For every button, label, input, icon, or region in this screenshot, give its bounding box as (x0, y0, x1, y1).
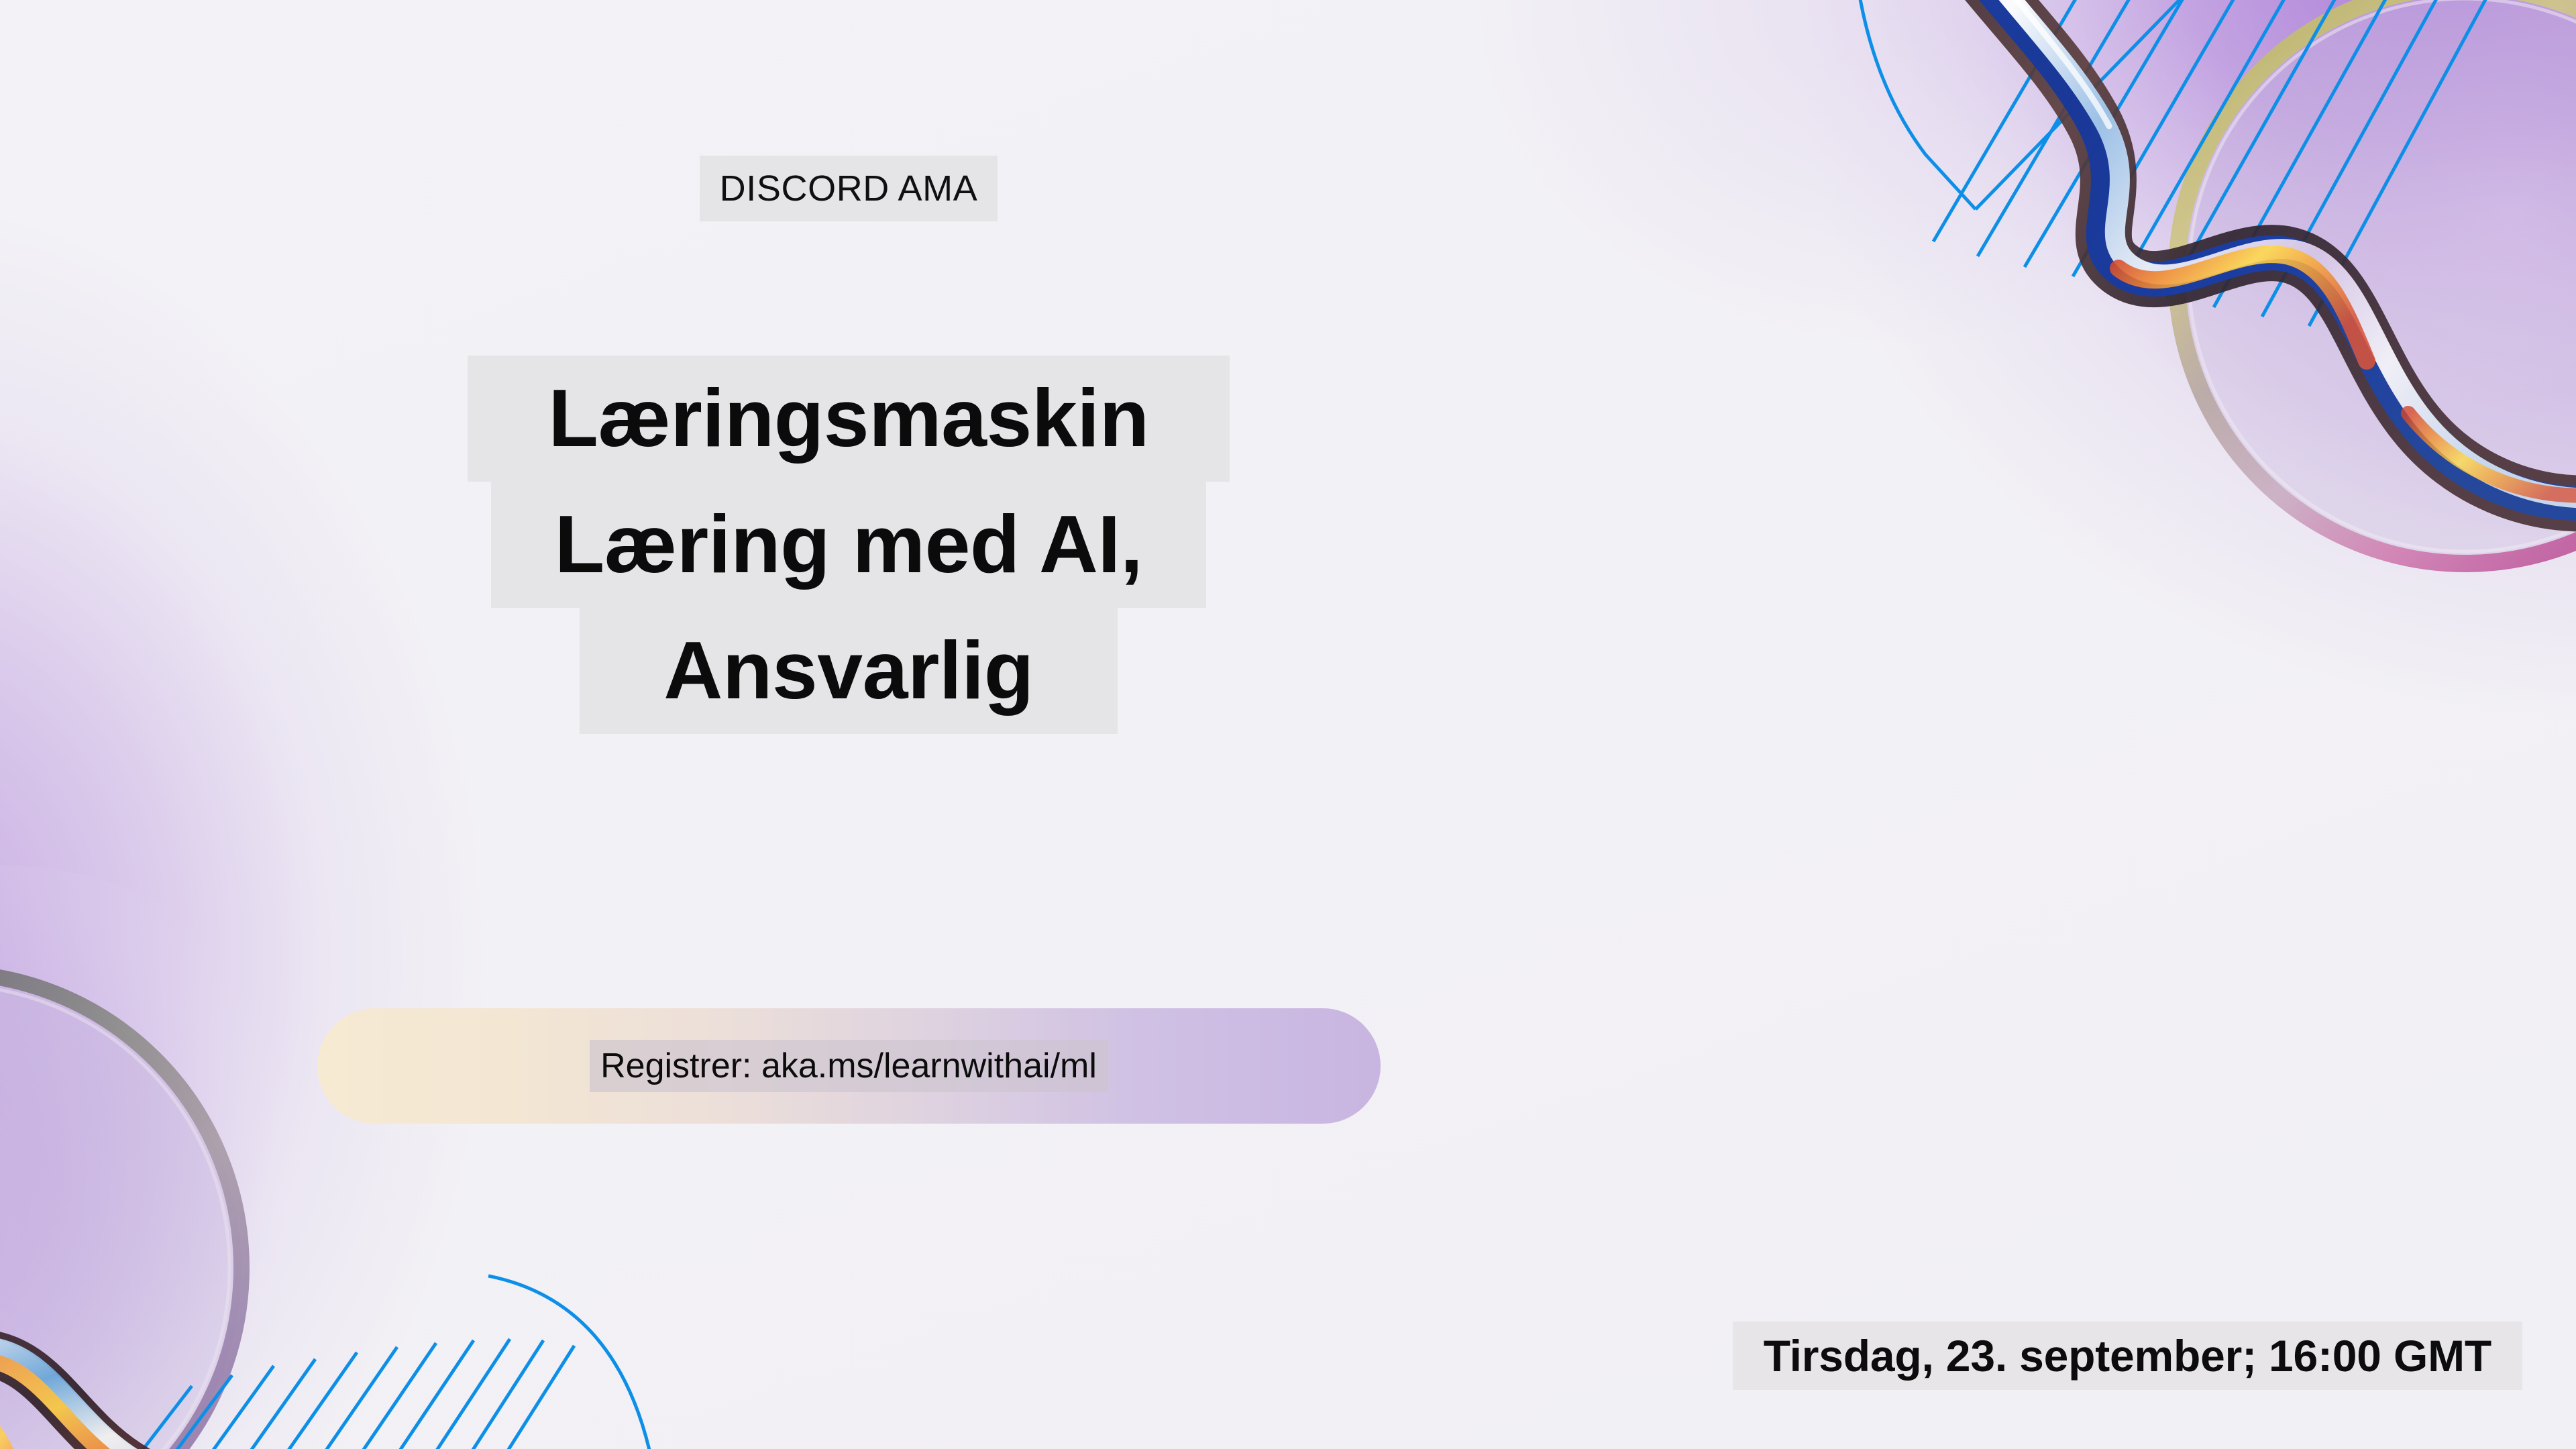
register-button-label: Registrer: aka.ms/learnwithai/ml (590, 1040, 1108, 1092)
eyebrow-row: DISCORD AMA (0, 156, 1697, 221)
poster-content: DISCORD AMA Læringsmaskin Læring med AI,… (0, 0, 2576, 1449)
register-button[interactable]: Registrer: aka.ms/learnwithai/ml (317, 1008, 1381, 1124)
event-datetime: Tirsdag, 23. september; 16:00 GMT (1733, 1322, 2522, 1390)
date-row: Tirsdag, 23. september; 16:00 GMT (0, 1322, 2522, 1390)
poster-canvas: DISCORD AMA Læringsmaskin Læring med AI,… (0, 0, 2576, 1449)
page-title: Læringsmaskin Læring med AI, Ansvarlig (0, 356, 1697, 734)
cta-row: Registrer: aka.ms/learnwithai/ml (0, 1008, 1697, 1124)
headline-text-3: Ansvarlig (580, 608, 1117, 734)
eyebrow-label: DISCORD AMA (700, 156, 998, 221)
headline-text-2: Læring med AI, (491, 482, 1206, 608)
headline-line-3: Ansvarlig (0, 608, 1697, 734)
headline-text-1: Læringsmaskin (468, 356, 1229, 482)
headline-line-2: Læring med AI, (0, 482, 1697, 608)
headline-line-1: Læringsmaskin (0, 356, 1697, 482)
